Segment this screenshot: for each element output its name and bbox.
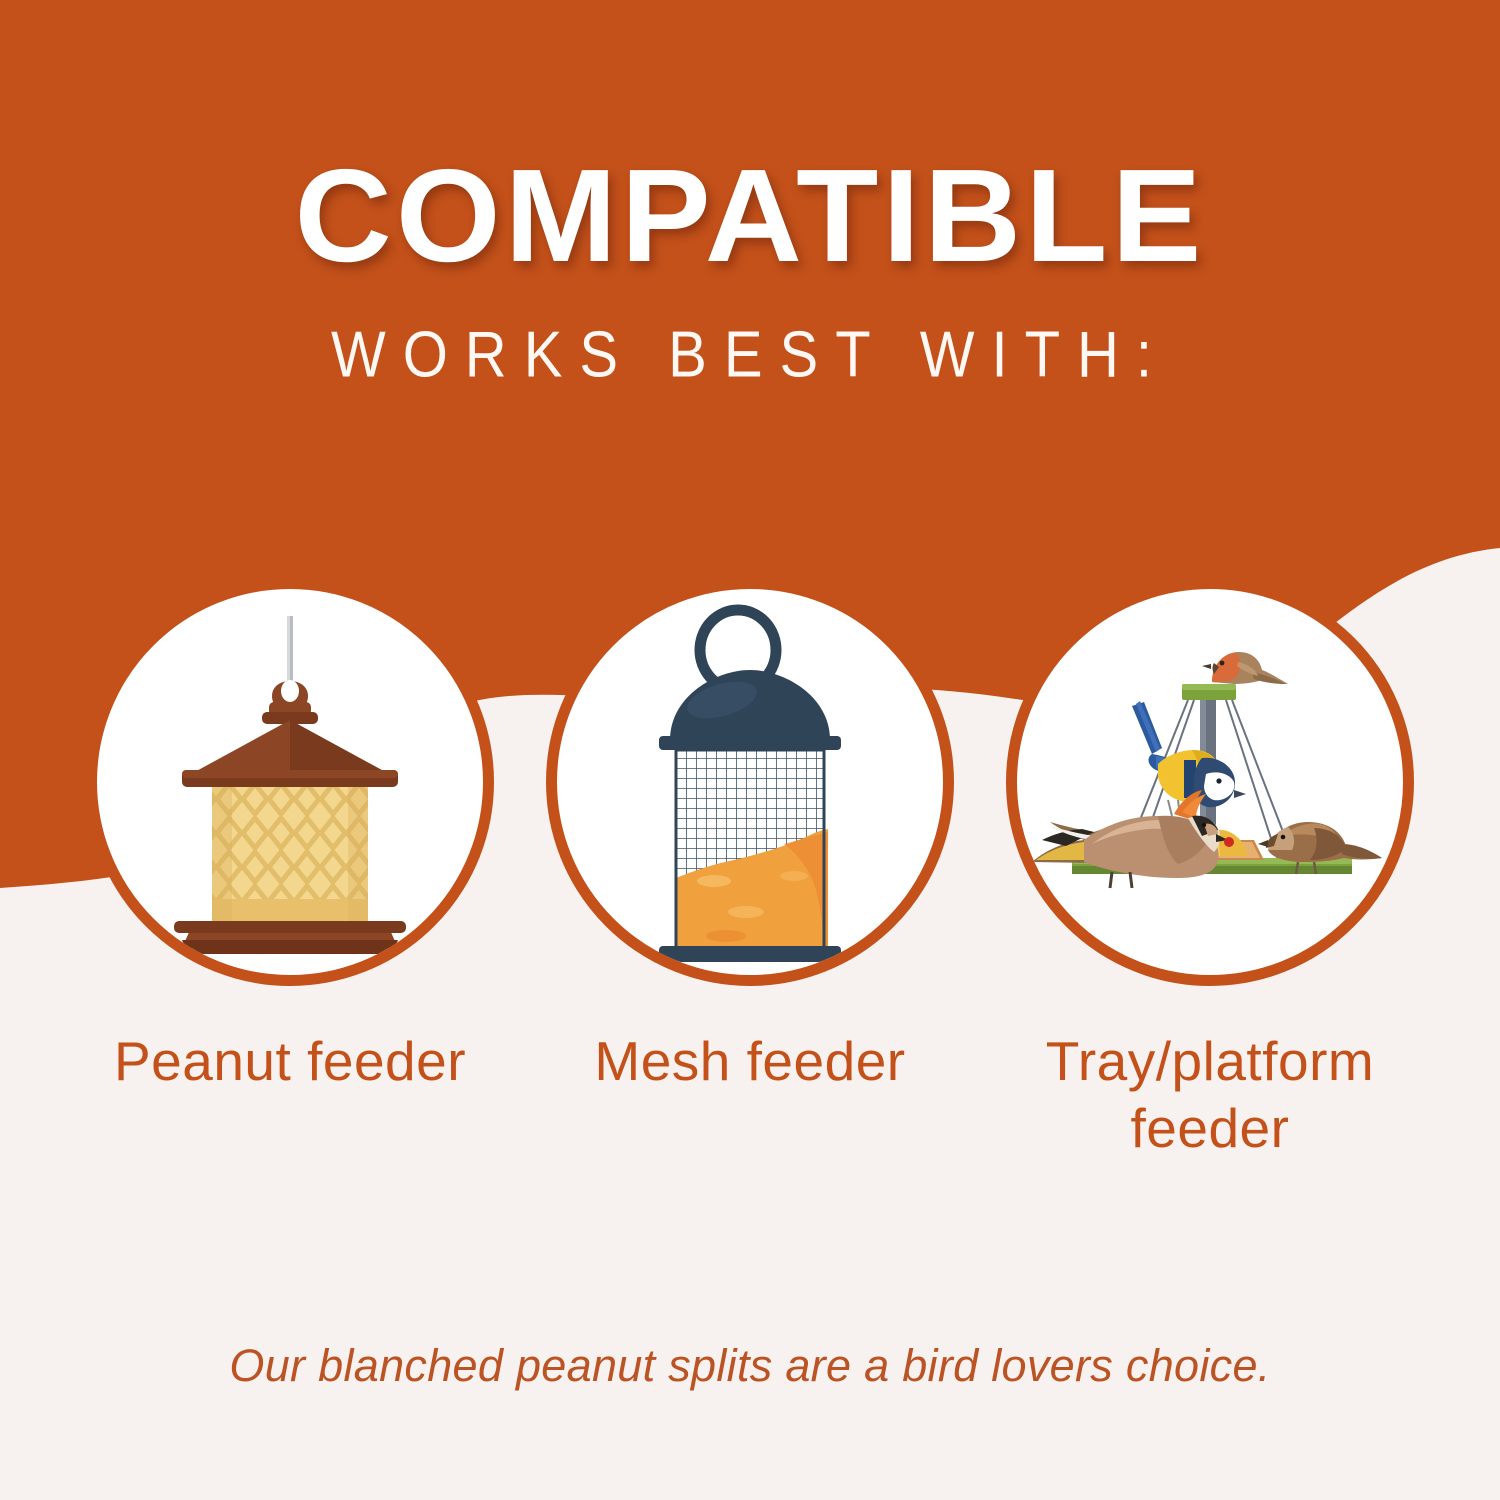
footer-tagline: Our blanched peanut splits are a bird lo… xyxy=(0,1340,1500,1392)
feeder-label-mesh: Mesh feeder xyxy=(535,1028,965,1095)
page-subtitle: WORKS BEST WITH: xyxy=(0,323,1500,388)
robin-bird xyxy=(1202,652,1288,684)
peanut-feeder-icon xyxy=(86,578,494,986)
compatibility-infographic: COMPATIBLE WORKS BEST WITH: xyxy=(0,0,1500,1500)
feeder-label-peanut: Peanut feeder xyxy=(75,1028,505,1095)
mesh-feeder-icon xyxy=(546,578,954,986)
tray-platform-feeder-icon xyxy=(1006,578,1414,986)
feeder-card-mesh[interactable] xyxy=(546,578,954,986)
feeder-label-tray: Tray/platform feeder xyxy=(995,1028,1425,1162)
feeder-card-row xyxy=(0,578,1500,990)
feeder-card-tray[interactable] xyxy=(1006,578,1414,986)
header-block: COMPATIBLE WORKS BEST WITH: xyxy=(0,150,1500,384)
page-title: COMPATIBLE xyxy=(0,150,1500,282)
feeder-card-peanut[interactable] xyxy=(86,578,494,986)
